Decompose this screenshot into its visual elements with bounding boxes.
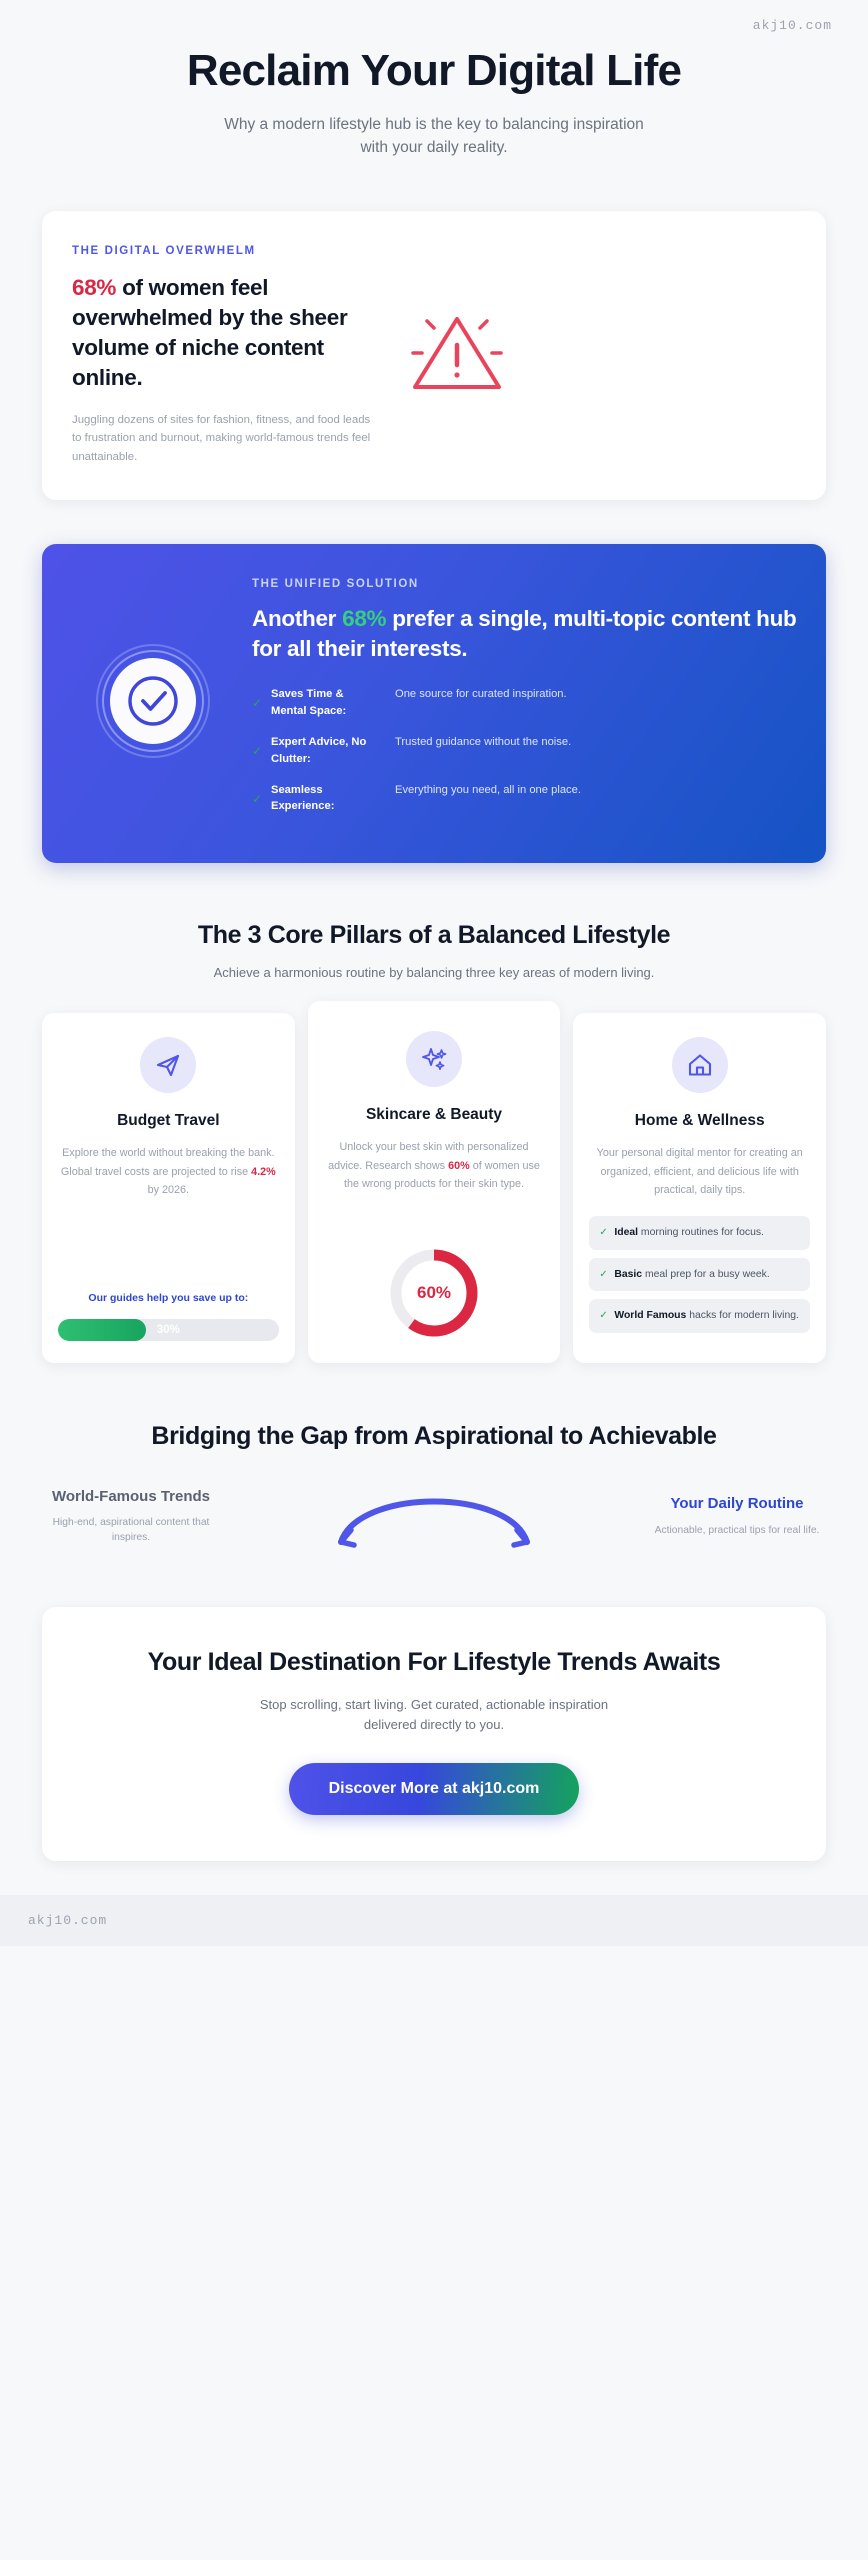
solution-eyebrow: THE UNIFIED SOLUTION (252, 578, 800, 590)
hero-section: Reclaim Your Digital Life Why a modern l… (0, 33, 868, 159)
list-item: ✓ Basic meal prep for a busy week. (589, 1258, 810, 1292)
bridge-title: Bridging the Gap from Aspirational to Ac… (62, 1421, 806, 1452)
benefit-desc: Everything you need, all in one place. (389, 782, 800, 799)
donut-value: 60% (386, 1245, 482, 1341)
pillar-body: Unlock your best skin with personalized … (324, 1138, 545, 1194)
solution-text-column: THE UNIFIED SOLUTION Another 68% prefer … (252, 578, 800, 829)
mini-item-text: World Famous hacks for modern living. (614, 1308, 799, 1324)
benefit-desc: One source for curated inspiration. (389, 686, 800, 703)
check-icon: ✓ (252, 734, 263, 760)
pillar-card-skincare-beauty: Skincare & Beauty Unlock your best skin … (308, 1001, 561, 1364)
list-item: ✓ World Famous hacks for modern living. (589, 1299, 810, 1333)
benefit-title: Seamless Experience: (271, 782, 381, 816)
list-item: ✓ Expert Advice, No Clutter: Trusted gui… (252, 734, 800, 768)
problem-card: THE DIGITAL OVERWHELM 68% of women feel … (42, 211, 826, 500)
problem-icon-column (382, 303, 532, 408)
mini-item-bold: World Famous (614, 1310, 686, 1321)
hero-subtitle: Why a modern lifestyle hub is the key to… (219, 113, 649, 160)
cta-subtitle: Stop scrolling, start living. Get curate… (234, 1695, 634, 1735)
pillar-title: Home & Wellness (635, 1111, 765, 1130)
pillars-title: The 3 Core Pillars of a Balanced Lifesty… (46, 921, 822, 950)
solution-headline: Another 68% prefer a single, multi-topic… (252, 604, 800, 664)
page-title: Reclaim Your Digital Life (60, 47, 808, 95)
solution-headline-pre: Another (252, 606, 342, 631)
list-item: ✓ Seamless Experience: Everything you ne… (252, 782, 800, 816)
pillar-body-stat: 60% (448, 1160, 470, 1172)
watermark-bottom: akj10.com (0, 1895, 868, 1946)
bridge-arc-icon (329, 1480, 539, 1553)
bridge-right-desc: Actionable, practical tips for real life… (652, 1523, 822, 1538)
bridge-left-desc: High-end, aspirational content that insp… (46, 1515, 216, 1546)
paper-plane-icon (140, 1037, 196, 1093)
check-icon: ✓ (599, 1267, 608, 1282)
pillar-card-budget-travel: Budget Travel Explore the world without … (42, 1013, 295, 1364)
bridge-section: World-Famous Trends High-end, aspiration… (46, 1480, 822, 1553)
bridge-left: World-Famous Trends High-end, aspiration… (46, 1487, 216, 1546)
mini-checklist: ✓ Ideal morning routines for focus. ✓ Ba… (589, 1216, 810, 1341)
benefits-list: ✓ Saves Time & Mental Space: One source … (252, 686, 800, 815)
bridge-right-title: Your Daily Routine (652, 1494, 822, 1513)
pillars-subtitle: Achieve a harmonious routine by balancin… (46, 963, 822, 983)
pillar-body: Explore the world without breaking the b… (58, 1144, 279, 1200)
solution-stat: 68% (342, 606, 386, 631)
mini-item-text: Ideal morning routines for focus. (614, 1225, 764, 1241)
benefit-desc: Trusted guidance without the noise. (389, 734, 800, 751)
progress-bar: 30% (58, 1319, 279, 1341)
check-icon: ✓ (599, 1308, 608, 1323)
benefit-title: Saves Time & Mental Space: (271, 686, 381, 720)
mini-item-bold: Basic (614, 1269, 642, 1280)
alert-triangle-icon (402, 303, 512, 408)
problem-stat: 68% (72, 275, 116, 300)
bridge-right: Your Daily Routine Actionable, practical… (652, 1494, 822, 1538)
progress-value: 30% (58, 1319, 279, 1341)
cta-title: Your Ideal Destination For Lifestyle Tre… (94, 1647, 774, 1678)
list-item: ✓ Ideal morning routines for focus. (589, 1216, 810, 1250)
bridge-left-title: World-Famous Trends (46, 1487, 216, 1506)
cta-card: Your Ideal Destination For Lifestyle Tre… (42, 1607, 826, 1861)
pillar-title: Budget Travel (117, 1111, 220, 1130)
mini-item-rest: hacks for modern living. (686, 1310, 799, 1321)
pillar-body-pre: Explore the world without breaking the b… (61, 1147, 275, 1178)
mini-item-rest: meal prep for a busy week. (642, 1269, 770, 1280)
check-circle-icon (93, 641, 213, 766)
pillar-body: Your personal digital mentor for creatin… (589, 1144, 810, 1200)
check-icon: ✓ (599, 1225, 608, 1240)
pillar-card-home-wellness: Home & Wellness Your personal digital me… (573, 1013, 826, 1364)
problem-eyebrow: THE DIGITAL OVERWHELM (72, 245, 372, 257)
bridge-header: Bridging the Gap from Aspirational to Ac… (0, 1421, 868, 1452)
watermark-top: akj10.com (0, 0, 868, 33)
pillars-grid: Budget Travel Explore the world without … (42, 1013, 826, 1364)
pillar-body-stat: 4.2% (251, 1166, 276, 1178)
mini-item-rest: morning routines for focus. (638, 1227, 764, 1238)
pillar-title: Skincare & Beauty (366, 1105, 502, 1124)
benefit-title: Expert Advice, No Clutter: (271, 734, 381, 768)
problem-body: Juggling dozens of sites for fashion, fi… (72, 411, 372, 466)
solution-icon-column (68, 641, 238, 766)
mini-item-bold: Ideal (614, 1227, 638, 1238)
mini-item-text: Basic meal prep for a busy week. (614, 1267, 769, 1283)
discover-more-button[interactable]: Discover More at akj10.com (289, 1763, 580, 1815)
sparkles-icon (406, 1031, 462, 1087)
list-item: ✓ Saves Time & Mental Space: One source … (252, 686, 800, 720)
donut-chart: 60% (386, 1245, 482, 1341)
home-icon (672, 1037, 728, 1093)
pillar-body-pre: Your personal digital mentor for creatin… (597, 1147, 803, 1196)
progress-label: Our guides help you save up to: (88, 1291, 248, 1307)
problem-text-column: THE DIGITAL OVERWHELM 68% of women feel … (72, 245, 372, 466)
bridge-arc (220, 1480, 648, 1553)
check-icon: ✓ (252, 782, 263, 808)
problem-headline: 68% of women feel overwhelmed by the she… (72, 273, 372, 393)
solution-card: THE UNIFIED SOLUTION Another 68% prefer … (42, 544, 826, 863)
pillars-header: The 3 Core Pillars of a Balanced Lifesty… (0, 921, 868, 983)
pillar-body-post: by 2026. (148, 1184, 189, 1196)
infographic-page: akj10.com Reclaim Your Digital Life Why … (0, 0, 868, 1946)
check-icon: ✓ (252, 686, 263, 712)
